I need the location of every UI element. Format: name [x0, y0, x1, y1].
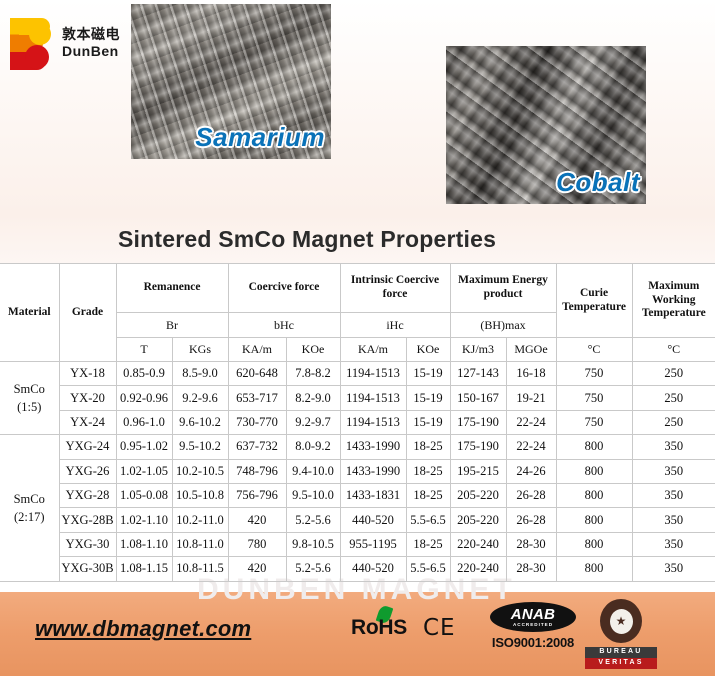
cell-grade: YXG-24	[59, 435, 116, 459]
cell-tc: 800	[556, 459, 632, 483]
cell-bh-kj: 127-143	[450, 362, 506, 386]
th-maximum-energy-product: Maximum Energy product	[450, 264, 556, 313]
cell-tc: 800	[556, 483, 632, 507]
unit-bhc-kam: KA/m	[228, 338, 286, 362]
cell-tw: 350	[632, 508, 715, 532]
sym-bhmax: (BH)max	[450, 313, 556, 338]
cell-br-kgs: 10.8-11.5	[172, 557, 228, 581]
cell-br-t: 0.95-1.02	[116, 435, 172, 459]
cell-ihc-koe: 18-25	[406, 435, 450, 459]
brand-name-cn: 敦本磁电	[62, 28, 120, 44]
unit-br-t: T	[116, 338, 172, 362]
cell-bh-mgoe: 26-28	[506, 508, 556, 532]
cell-ihc-koe: 5.5-6.5	[406, 508, 450, 532]
cell-tc: 800	[556, 532, 632, 556]
cell-bh-mgoe: 28-30	[506, 557, 556, 581]
th-curie-temperature: Curie Temperature	[556, 264, 632, 338]
cell-bhc-koe: 5.2-5.6	[286, 508, 340, 532]
table-header-row-titles: Material Grade Remanence Coercive force …	[0, 264, 715, 313]
table-row: YXG-26 1.02-1.05 10.2-10.5 748-796 9.4-1…	[0, 459, 715, 483]
cell-tw: 250	[632, 410, 715, 434]
bureau-veritas-label-line1: BUREAU	[585, 647, 657, 658]
cell-br-t: 1.08-1.10	[116, 532, 172, 556]
cell-ihc-kam: 1194-1513	[340, 362, 406, 386]
bureau-veritas-label-line2: VERITAS	[585, 658, 657, 669]
material-label-line2: (1:5)	[17, 400, 41, 414]
cell-grade: YXG-26	[59, 459, 116, 483]
cell-br-t: 1.05-0.08	[116, 483, 172, 507]
cell-bh-mgoe: 22-24	[506, 435, 556, 459]
cell-grade: YX-24	[59, 410, 116, 434]
cell-tw: 350	[632, 435, 715, 459]
cell-bhc-koe: 5.2-5.6	[286, 557, 340, 581]
cell-bhc-koe: 7.8-8.2	[286, 362, 340, 386]
cell-bh-mgoe: 24-26	[506, 459, 556, 483]
cell-tw: 250	[632, 362, 715, 386]
cell-bhc-koe: 8.0-9.2	[286, 435, 340, 459]
cobalt-photo: Cobalt	[446, 46, 646, 204]
th-remanence: Remanence	[116, 264, 228, 313]
bureau-veritas-badge: ★ BUREAU VERITAS	[585, 599, 657, 669]
cell-tw: 350	[632, 532, 715, 556]
cell-br-kgs: 9.6-10.2	[172, 410, 228, 434]
cell-ihc-koe: 15-19	[406, 362, 450, 386]
cell-tc: 750	[556, 410, 632, 434]
material-label-line1: SmCo	[14, 492, 45, 506]
cell-br-t: 1.08-1.15	[116, 557, 172, 581]
cell-bhc-kam: 780	[228, 532, 286, 556]
cell-bhc-kam: 730-770	[228, 410, 286, 434]
anab-certification-badge: ANAB ACCREDITED ISO9001:2008	[487, 602, 579, 650]
cell-grade: YXG-28	[59, 483, 116, 507]
properties-table-zone: DUNBEN MAGNET Material Grade Remanence C…	[0, 263, 715, 584]
unit-tc: °C	[556, 338, 632, 362]
unit-bh-mgoe: MGOe	[506, 338, 556, 362]
cell-tw: 350	[632, 557, 715, 581]
cell-tc: 750	[556, 362, 632, 386]
cell-ihc-kam: 1194-1513	[340, 386, 406, 410]
table-row: YXG-30B 1.08-1.15 10.8-11.5 420 5.2-5.6 …	[0, 557, 715, 581]
cell-bh-kj: 175-190	[450, 435, 506, 459]
material-label-line1: SmCo	[14, 382, 45, 396]
cell-bh-mgoe: 16-18	[506, 362, 556, 386]
table-row: YX-20 0.92-0.96 9.2-9.6 653-717 8.2-9.0 …	[0, 386, 715, 410]
cell-bhc-kam: 420	[228, 557, 286, 581]
material-smco-1-5: SmCo (1:5)	[0, 362, 59, 435]
dunben-b-logo-icon	[10, 18, 54, 70]
cell-bh-kj: 205-220	[450, 508, 506, 532]
cell-br-kgs: 8.5-9.0	[172, 362, 228, 386]
cell-ihc-kam: 1433-1831	[340, 483, 406, 507]
unit-bhc-koe: KOe	[286, 338, 340, 362]
cell-br-t: 0.85-0.9	[116, 362, 172, 386]
cell-bhc-kam: 756-796	[228, 483, 286, 507]
cell-bhc-koe: 9.4-10.0	[286, 459, 340, 483]
brand-name-en: DunBen	[62, 44, 120, 60]
cell-ihc-kam: 1433-1990	[340, 435, 406, 459]
cell-ihc-kam: 1194-1513	[340, 410, 406, 434]
th-material: Material	[0, 264, 59, 362]
cell-ihc-kam: 1433-1990	[340, 459, 406, 483]
cell-br-t: 1.02-1.10	[116, 508, 172, 532]
cell-bh-kj: 150-167	[450, 386, 506, 410]
cell-tw: 350	[632, 459, 715, 483]
cell-bh-kj: 195-215	[450, 459, 506, 483]
cell-br-t: 0.92-0.96	[116, 386, 172, 410]
cell-bhc-koe: 9.2-9.7	[286, 410, 340, 434]
iso-certification-label: ISO9001:2008	[487, 635, 579, 650]
table-row: YXG-30 1.08-1.10 10.8-11.0 780 9.8-10.5 …	[0, 532, 715, 556]
top-banner: 敦本磁电 DunBen Samarium Cobalt	[0, 0, 715, 215]
cell-bhc-koe: 8.2-9.0	[286, 386, 340, 410]
cell-bh-kj: 175-190	[450, 410, 506, 434]
cell-ihc-kam: 955-1195	[340, 532, 406, 556]
unit-bh-kjm3: KJ/m3	[450, 338, 506, 362]
cell-grade: YXG-28B	[59, 508, 116, 532]
unit-ihc-koe: KOe	[406, 338, 450, 362]
table-row: YXG-28B 1.02-1.10 10.2-11.0 420 5.2-5.6 …	[0, 508, 715, 532]
table-row: SmCo (1:5) YX-18 0.85-0.9 8.5-9.0 620-64…	[0, 362, 715, 386]
cell-grade: YXG-30	[59, 532, 116, 556]
cell-ihc-kam: 440-520	[340, 557, 406, 581]
title-bar: Sintered SmCo Magnet Properties	[0, 215, 715, 263]
th-coercive-force: Coercive force	[228, 264, 340, 313]
anab-oval-icon: ANAB ACCREDITED	[490, 602, 576, 632]
cell-bh-mgoe: 19-21	[506, 386, 556, 410]
sym-bhc: bHc	[228, 313, 340, 338]
bureau-veritas-seal-icon: ★	[600, 599, 642, 643]
cell-tc: 800	[556, 557, 632, 581]
samarium-photo: Samarium	[131, 4, 331, 159]
cell-bh-kj: 205-220	[450, 483, 506, 507]
unit-ihc-kam: KA/m	[340, 338, 406, 362]
th-maximum-working-temperature: Maximum Working Temperature	[632, 264, 715, 338]
cell-br-kgs: 10.8-11.0	[172, 532, 228, 556]
cell-bhc-kam: 748-796	[228, 459, 286, 483]
cell-br-kgs: 9.2-9.6	[172, 386, 228, 410]
page-title: Sintered SmCo Magnet Properties	[118, 226, 496, 253]
anab-label: ANAB	[511, 607, 556, 622]
cell-bhc-kam: 420	[228, 508, 286, 532]
cell-tc: 800	[556, 508, 632, 532]
cell-tc: 800	[556, 435, 632, 459]
table-row: SmCo (2:17) YXG-24 0.95-1.02 9.5-10.2 63…	[0, 435, 715, 459]
table-row: YXG-28 1.05-0.08 10.5-10.8 756-796 9.5-1…	[0, 483, 715, 507]
cell-bhc-kam: 637-732	[228, 435, 286, 459]
cell-bh-mgoe: 22-24	[506, 410, 556, 434]
cell-grade: YX-20	[59, 386, 116, 410]
cell-br-t: 0.96-1.0	[116, 410, 172, 434]
cell-bh-kj: 220-240	[450, 532, 506, 556]
cell-br-kgs: 9.5-10.2	[172, 435, 228, 459]
ce-mark-icon: CE	[423, 615, 456, 641]
cell-br-kgs: 10.2-11.0	[172, 508, 228, 532]
cell-ihc-koe: 5.5-6.5	[406, 557, 450, 581]
footer-bar: www.dbmagnet.com RoHS CE ANAB ACCREDITED…	[0, 592, 715, 676]
cell-ihc-koe: 18-25	[406, 483, 450, 507]
material-smco-2-17: SmCo (2:17)	[0, 435, 59, 581]
cell-grade: YX-18	[59, 362, 116, 386]
cell-bh-kj: 220-240	[450, 557, 506, 581]
unit-tw: °C	[632, 338, 715, 362]
cell-bh-mgoe: 26-28	[506, 483, 556, 507]
cell-tc: 750	[556, 386, 632, 410]
cobalt-photo-label: Cobalt	[556, 167, 640, 198]
cell-br-kgs: 10.2-10.5	[172, 459, 228, 483]
cell-br-kgs: 10.5-10.8	[172, 483, 228, 507]
cell-bh-mgoe: 28-30	[506, 532, 556, 556]
cell-tw: 350	[632, 483, 715, 507]
cell-tw: 250	[632, 386, 715, 410]
th-intrinsic-coercive-force: Intrinsic Coercive force	[340, 264, 450, 313]
sym-ihc: iHc	[340, 313, 450, 338]
unit-br-kgs: KGs	[172, 338, 228, 362]
material-label-line2: (2:17)	[14, 510, 45, 524]
cell-bhc-koe: 9.5-10.0	[286, 483, 340, 507]
smco-properties-table: Material Grade Remanence Coercive force …	[0, 263, 715, 582]
website-link[interactable]: www.dbmagnet.com	[35, 616, 251, 642]
brand-logo[interactable]: 敦本磁电 DunBen	[10, 18, 120, 70]
cell-ihc-koe: 18-25	[406, 532, 450, 556]
cell-ihc-kam: 440-520	[340, 508, 406, 532]
rohs-badge: RoHS	[351, 616, 407, 640]
cell-grade: YXG-30B	[59, 557, 116, 581]
th-grade: Grade	[59, 264, 116, 362]
cell-bhc-kam: 620-648	[228, 362, 286, 386]
cell-br-t: 1.02-1.05	[116, 459, 172, 483]
samarium-photo-label: Samarium	[195, 122, 325, 153]
sym-br: Br	[116, 313, 228, 338]
cell-ihc-koe: 18-25	[406, 459, 450, 483]
table-row: YX-24 0.96-1.0 9.6-10.2 730-770 9.2-9.7 …	[0, 410, 715, 434]
cell-bhc-koe: 9.8-10.5	[286, 532, 340, 556]
cell-ihc-koe: 15-19	[406, 386, 450, 410]
cell-ihc-koe: 15-19	[406, 410, 450, 434]
cell-bhc-kam: 653-717	[228, 386, 286, 410]
anab-accredited-label: ACCREDITED	[513, 623, 553, 628]
